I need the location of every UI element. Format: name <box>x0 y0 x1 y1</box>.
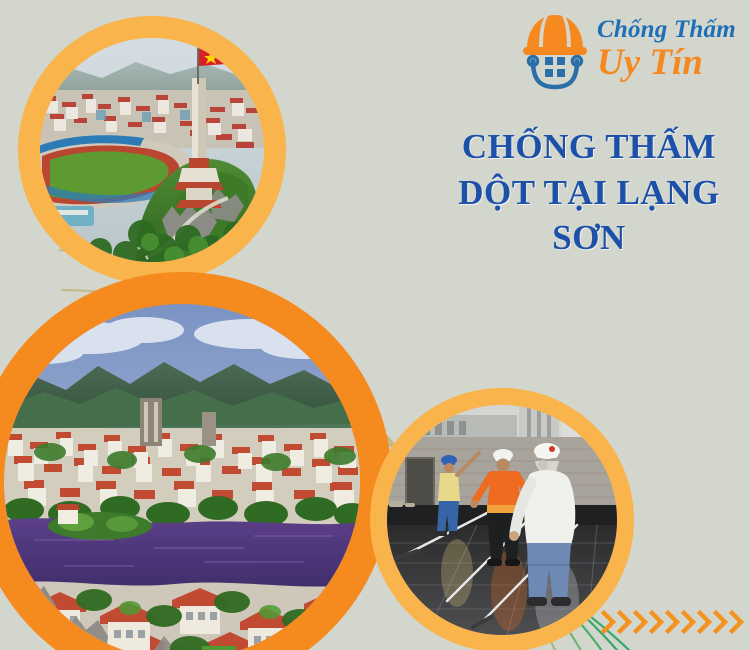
poster-headline: CHỐNG THẤM DỘT TẠI LẠNG SƠN <box>430 124 748 261</box>
roof-waterproofing-scene <box>387 405 617 635</box>
brand-name-line1: Chống Thấm <box>597 17 736 42</box>
lang-son-flag-tower-stadium-photo <box>18 16 286 284</box>
photo-clip <box>387 405 617 635</box>
brand-name-line2: Uy Tín <box>597 44 736 83</box>
photo-clip <box>40 38 264 262</box>
hard-hat-toolbox-logo-icon <box>515 5 595 95</box>
flag-tower-scene <box>40 38 264 262</box>
brand-logo: Chống Thấm Uy Tín <box>515 2 750 97</box>
poster-canvas: Chống Thấm Uy Tín CHỐNG THẤM DỘT TẠI LẠN… <box>0 0 750 650</box>
city-lake-scene <box>4 304 360 650</box>
photo-clip <box>4 304 360 650</box>
brand-logo-text: Chống Thấm Uy Tín <box>597 17 736 83</box>
headline-line-3: SƠN <box>430 215 748 261</box>
chevron-arrow-strip <box>601 605 749 639</box>
chevron-right-icons <box>601 605 749 639</box>
headline-line-2: DỘT TẠI LẠNG <box>430 170 748 216</box>
roof-waterproofing-workers-photo <box>370 388 634 650</box>
headline-line-1: CHỐNG THẤM <box>430 124 748 170</box>
lang-son-city-lake-panorama-photo <box>0 272 392 650</box>
